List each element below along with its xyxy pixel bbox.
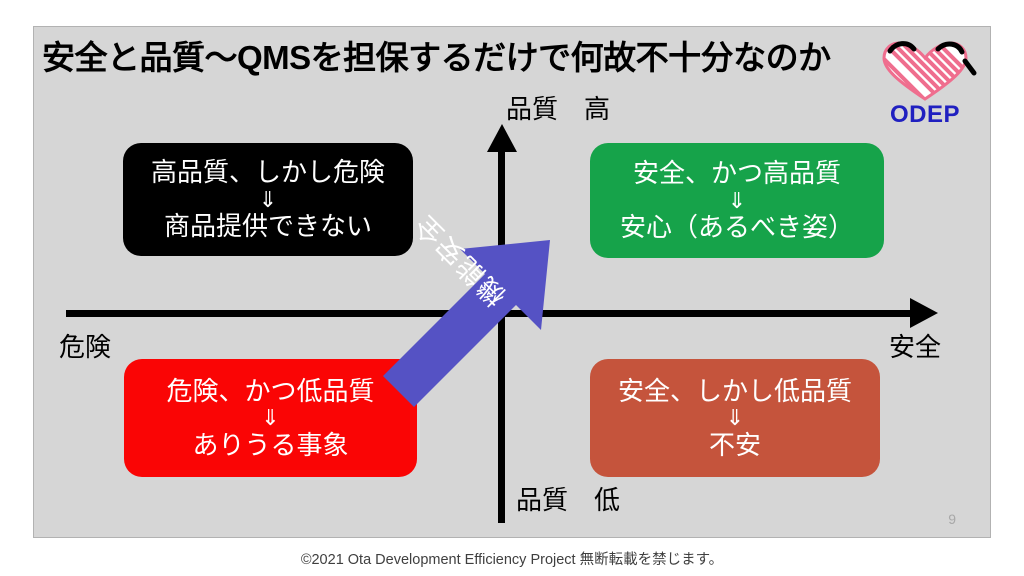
quadrant-arrow-glyph: ⇓ — [261, 406, 279, 429]
quadrant-line-primary: 安全、しかし低品質 — [618, 376, 852, 407]
quadrant-line-secondary: ありうる事象 — [192, 430, 348, 461]
odep-heart-logo-icon — [870, 39, 980, 103]
page-number: 9 — [948, 511, 956, 527]
quadrant-line-primary: 安全、かつ高品質 — [633, 158, 841, 189]
quadrant-box-high-quality-but-dangerous: 高品質、しかし危険 ⇓ 商品提供できない — [123, 143, 413, 256]
copyright-footer: ©2021 Ota Development Efficiency Project… — [0, 548, 1024, 569]
quadrant-arrow-glyph: ⇓ — [728, 189, 746, 212]
axis-label-quality-high: 品質 高 — [506, 89, 610, 126]
odep-brand-text: ODEP — [870, 101, 980, 129]
odep-logo: ODEP — [870, 39, 980, 131]
quadrant-line-secondary: 安心（あるべき姿） — [620, 212, 854, 243]
quadrant-box-safe-and-high-quality: 安全、かつ高品質 ⇓ 安心（あるべき姿） — [590, 143, 884, 258]
quadrant-line-secondary: 商品提供できない — [164, 211, 372, 242]
quadrant-box-safe-but-low-quality: 安全、しかし低品質 ⇓ 不安 — [590, 359, 880, 477]
quadrant-arrow-glyph: ⇓ — [726, 406, 744, 429]
quadrant-box-dangerous-and-low-quality: 危険、かつ低品質 ⇓ ありうる事象 — [124, 359, 417, 477]
slide-canvas: 安全と品質～QMSを担保するだけで何故不十分なのか — [33, 26, 991, 538]
quadrant-arrow-glyph: ⇓ — [259, 188, 277, 211]
quadrant-line-primary: 危険、かつ低品質 — [166, 376, 374, 407]
axis-right-arrow-icon — [910, 298, 938, 328]
vertical-axis-line — [498, 149, 505, 523]
axis-label-quality-low: 品質 低 — [516, 480, 620, 517]
quadrant-line-secondary: 不安 — [709, 430, 761, 461]
quadrant-line-primary: 高品質、しかし危険 — [151, 157, 385, 188]
slide-page: 安全と品質～QMSを担保するだけで何故不十分なのか — [0, 0, 1024, 576]
axis-up-arrow-icon — [487, 124, 517, 152]
page-title: 安全と品質～QMSを担保するだけで何故不十分なのか — [42, 31, 922, 85]
axis-label-safe: 安全 — [889, 327, 941, 364]
axis-label-danger: 危険 — [59, 327, 111, 364]
